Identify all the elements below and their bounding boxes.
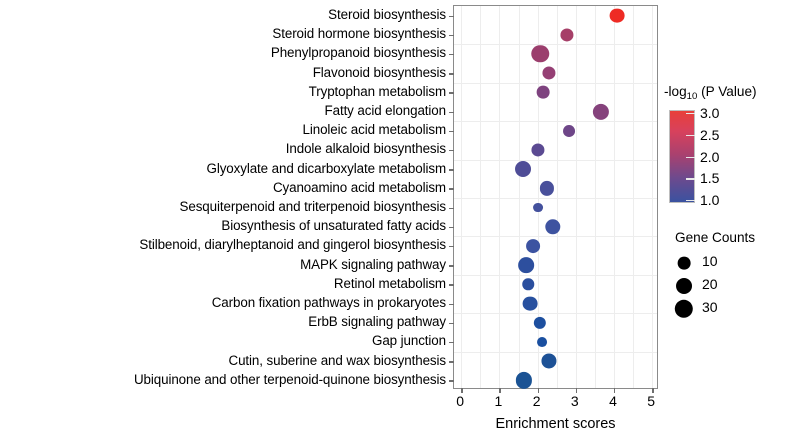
horizontal-gridline [454, 198, 657, 199]
color-legend-tick [686, 135, 695, 136]
color-legend-title-prefix: -log [664, 84, 687, 99]
y-axis-category-label: Fatty acid elongation [0, 104, 446, 117]
vertical-gridline [652, 6, 653, 388]
data-point [526, 239, 540, 253]
y-axis-category-label: Linoleic acid metabolism [0, 123, 446, 136]
data-point [533, 203, 543, 213]
horizontal-gridline [454, 121, 657, 122]
size-legend-dot [676, 278, 692, 294]
y-axis-tick [449, 188, 454, 189]
data-point [563, 125, 575, 137]
size-legend-label: 10 [702, 254, 718, 268]
y-axis-tick [449, 227, 454, 228]
y-axis-category-label: Biosynthesis of unsaturated fatty acids [0, 219, 446, 232]
y-axis-category-label: Flavonoid biosynthesis [0, 66, 446, 79]
y-axis-tick [449, 342, 454, 343]
color-legend-tick [686, 157, 695, 158]
horizontal-gridline [454, 275, 657, 276]
vertical-gridline-minor [595, 6, 596, 388]
y-axis-tick [449, 73, 454, 74]
data-point [532, 143, 545, 156]
data-point [515, 161, 531, 177]
y-axis-tick [449, 265, 454, 266]
size-legend-title: Gene Counts [675, 230, 755, 246]
y-axis-tick [449, 131, 454, 132]
color-legend-tick [686, 200, 695, 201]
x-axis-title: Enrichment scores [453, 417, 658, 432]
x-axis-tick-label: 3 [560, 394, 590, 408]
y-axis-category-label: Retinol metabolism [0, 277, 446, 290]
color-legend-tick-label: 1.5 [700, 171, 719, 185]
y-axis-tick [449, 150, 454, 151]
vertical-gridline [614, 6, 615, 388]
y-axis-category-label: MAPK signaling pathway [0, 258, 446, 271]
y-axis-category-label: Carbon fixation pathways in prokaryotes [0, 296, 446, 309]
y-axis-category-label: Steroid biosynthesis [0, 8, 446, 21]
data-point [537, 86, 550, 99]
y-axis-category-label: Cyanoamino acid metabolism [0, 181, 446, 194]
data-point [537, 337, 547, 347]
size-legend-dot [678, 257, 691, 270]
color-legend-tick-label: 1.0 [700, 193, 719, 207]
size-legend: Gene Counts 102030 [664, 230, 792, 325]
y-axis-category-label: ErbB signaling pathway [0, 315, 446, 328]
y-axis-category-labels: Steroid biosynthesisSteroid hormone bios… [0, 5, 446, 389]
y-axis-category-label: Glyoxylate and dicarboxylate metabolism [0, 162, 446, 175]
vertical-gridline [576, 6, 577, 388]
y-axis-category-label: Steroid hormone biosynthesis [0, 27, 446, 40]
vertical-gridline [499, 6, 500, 388]
data-point [545, 219, 560, 234]
enrichment-bubble-chart: Steroid biosynthesisSteroid hormone bios… [0, 0, 792, 445]
size-legend-label: 20 [702, 277, 718, 291]
x-axis-tick-label: 4 [598, 394, 628, 408]
y-axis-tick [449, 304, 454, 305]
horizontal-gridline [454, 160, 657, 161]
y-axis-category-label: Phenylpropanoid biosynthesis [0, 46, 446, 59]
x-axis-tick-label: 0 [445, 394, 475, 408]
size-legend-entry: 10 [664, 252, 792, 274]
color-legend-tick-label: 3.0 [700, 106, 719, 120]
data-point [593, 103, 609, 119]
y-axis-category-label: Gap junction [0, 334, 446, 347]
data-point [516, 372, 532, 388]
y-axis-tick [449, 169, 454, 170]
vertical-gridline-minor [480, 6, 481, 388]
x-axis-tick-label: 1 [483, 394, 513, 408]
data-point [540, 181, 554, 195]
color-legend-title: -log10 (P Value) [664, 84, 757, 102]
y-axis-category-label: Cutin, suberine and wax biosynthesis [0, 354, 446, 367]
size-legend-entry: 30 [664, 298, 792, 320]
data-point [534, 317, 546, 329]
vertical-gridline-minor [633, 6, 634, 388]
horizontal-gridline [454, 83, 657, 84]
color-legend-tick-label: 2.5 [700, 128, 719, 142]
x-axis-tick-label: 5 [636, 394, 666, 408]
y-axis-category-label: Stilbenoid, diarylheptanoid and gingerol… [0, 238, 446, 251]
vertical-gridline [538, 6, 539, 388]
color-legend-title-suffix: (P Value) [697, 84, 756, 99]
y-axis-category-label: Ubiquinone and other terpenoid-quinone b… [0, 373, 446, 386]
y-axis-tick [449, 284, 454, 285]
size-legend-entry: 20 [664, 275, 792, 297]
y-axis-category-label: Sesquiterpenoid and triterpenoid biosynt… [0, 200, 446, 213]
horizontal-gridline [454, 44, 657, 45]
color-legend-tick [686, 178, 695, 179]
y-axis-tick [449, 361, 454, 362]
horizontal-gridline [454, 313, 657, 314]
y-axis-tick [449, 112, 454, 113]
y-axis-category-label: Indole alkaloid biosynthesis [0, 142, 446, 155]
data-point [523, 279, 534, 290]
plot-panel [453, 5, 658, 389]
color-legend-title-subscript: 10 [687, 91, 698, 102]
data-point [542, 67, 555, 80]
y-axis-tick [449, 208, 454, 209]
y-axis-tick [449, 54, 454, 55]
vertical-gridline [461, 6, 462, 388]
vertical-gridline-minor [557, 6, 558, 388]
y-axis-tick [449, 92, 454, 93]
y-axis-tick [449, 35, 454, 36]
x-axis-tick-label: 2 [522, 394, 552, 408]
color-legend: -log10 (P Value) 3.02.52.01.51.0 [664, 84, 792, 212]
color-legend-tick-label: 2.0 [700, 150, 719, 164]
data-point [610, 8, 625, 23]
vertical-gridline-minor [519, 6, 520, 388]
size-legend-label: 30 [702, 300, 718, 314]
y-axis-tick [449, 16, 454, 17]
data-point [523, 296, 538, 311]
data-point [532, 45, 549, 62]
data-point [518, 257, 534, 273]
data-point [560, 28, 573, 41]
y-axis-category-label: Tryptophan metabolism [0, 85, 446, 98]
y-axis-tick [449, 323, 454, 324]
data-point [542, 354, 557, 369]
horizontal-gridline [454, 236, 657, 237]
y-axis-tick [449, 380, 454, 381]
y-axis-tick [449, 246, 454, 247]
color-legend-tick [686, 113, 695, 114]
size-legend-dot [675, 300, 693, 318]
horizontal-gridline [454, 352, 657, 353]
